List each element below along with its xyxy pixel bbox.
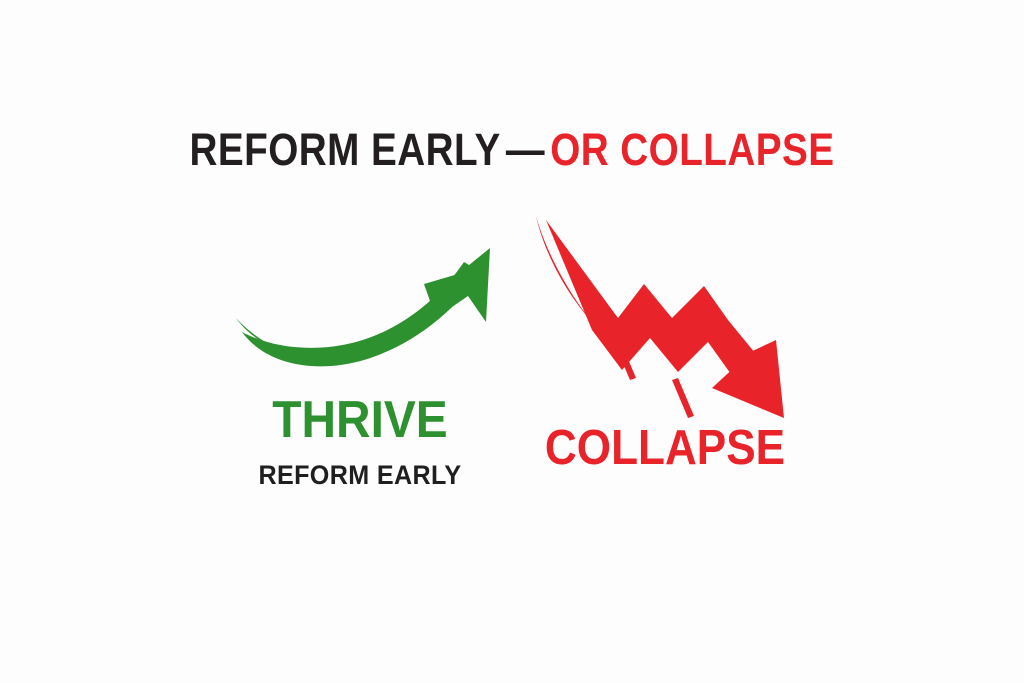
headline-dark-segment: REFORM EARLY (190, 124, 501, 175)
downward-zigzag-arrow-icon (532, 212, 804, 428)
right-panel-title: COLLAPSE (521, 424, 809, 473)
headline-red-segment: OR COLLAPSE (550, 124, 834, 175)
page-title: REFORM EARLY—OR COLLAPSE (72, 126, 953, 173)
red-arrow-accent-sliver-valley-two (672, 378, 694, 418)
poster-canvas: REFORM EARLY—OR COLLAPSE THRIVE REFORM E… (0, 0, 1024, 683)
green-arrow-head (424, 248, 490, 322)
red-arrow-zigzag-stroke (546, 220, 764, 384)
headline-dash: — (501, 124, 550, 175)
upward-curved-arrow-icon (232, 226, 508, 382)
left-panel-title: THRIVE (213, 394, 507, 446)
left-panel-subtitle: REFORM EARLY (211, 462, 509, 489)
green-arrow-stroke (242, 262, 481, 366)
